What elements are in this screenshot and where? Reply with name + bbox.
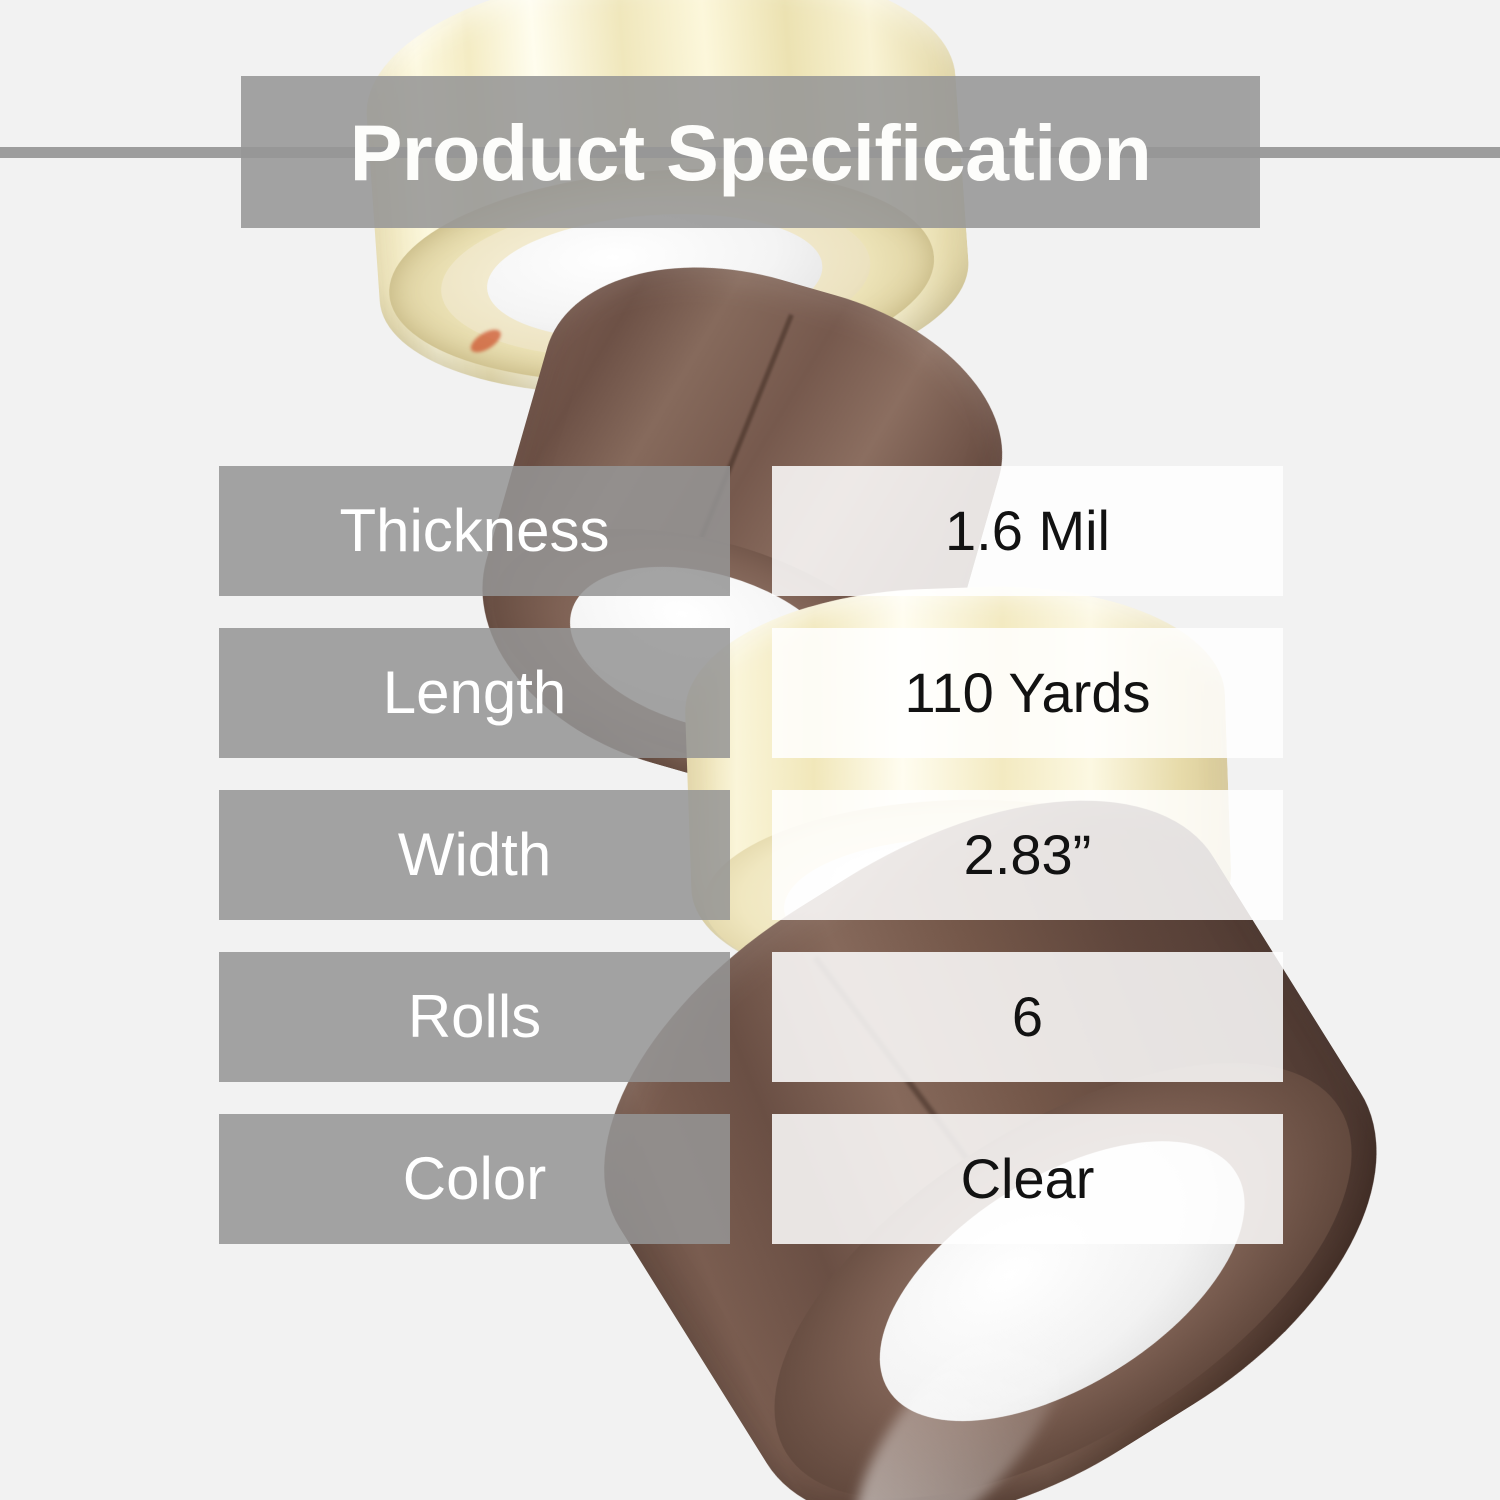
spec-value-thickness: 1.6 Mil [772,466,1283,596]
spec-value-text: 6 [1012,989,1043,1045]
spec-label-color: Color [219,1114,730,1244]
spec-value-text: Clear [961,1151,1095,1207]
table-row: Thickness 1.6 Mil [0,466,1500,596]
spec-label-text: Rolls [408,987,541,1047]
table-row: Width 2.83” [0,790,1500,920]
spec-label-width: Width [219,790,730,920]
spec-label-text: Color [403,1149,546,1209]
spec-label-thickness: Thickness [219,466,730,596]
specification-table: Thickness 1.6 Mil Length 110 Yards Width… [0,0,1500,1500]
spec-label-text: Thickness [339,501,609,561]
table-row: Color Clear [0,1114,1500,1244]
spec-label-length: Length [219,628,730,758]
spec-value-width: 2.83” [772,790,1283,920]
spec-value-text: 110 Yards [905,665,1151,721]
spec-value-color: Clear [772,1114,1283,1244]
spec-value-rolls: 6 [772,952,1283,1082]
spec-value-text: 1.6 Mil [945,503,1110,559]
spec-value-length: 110 Yards [772,628,1283,758]
table-row: Rolls 6 [0,952,1500,1082]
spec-label-text: Width [398,825,551,885]
spec-label-text: Length [383,663,567,723]
product-specification-infographic: Product Specification Thickness 1.6 Mil … [0,0,1500,1500]
spec-label-rolls: Rolls [219,952,730,1082]
spec-value-text: 2.83” [964,827,1092,883]
table-row: Length 110 Yards [0,628,1500,758]
